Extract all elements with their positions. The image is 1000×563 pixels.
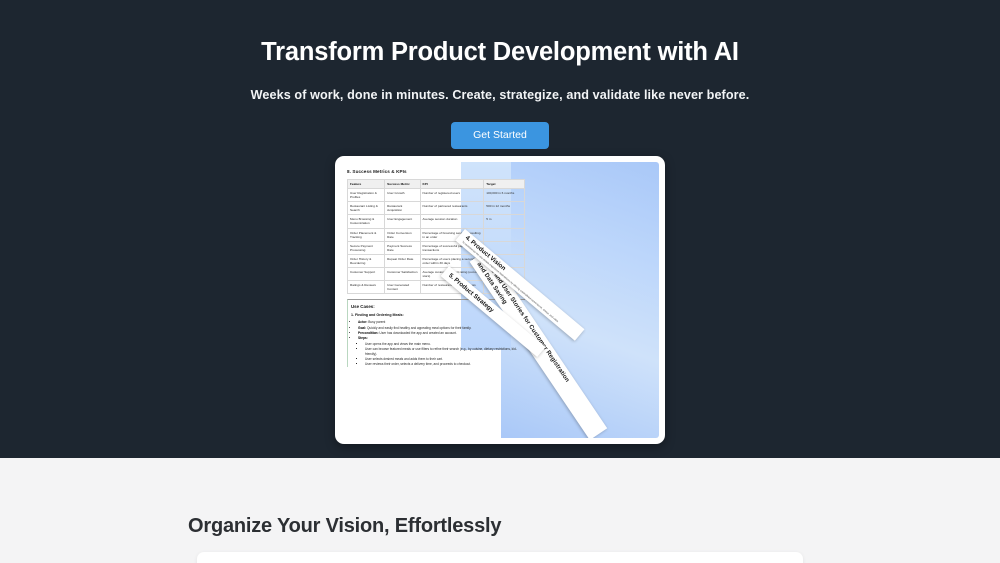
list-item-text: Busy parent (367, 320, 385, 324)
list-item: User opens the app and views the main me… (365, 342, 525, 347)
list-item: Precondition: User has downloaded the ap… (358, 331, 525, 336)
table-header-cell: Success Metric (385, 180, 420, 189)
use-case-steps-list: User opens the app and views the main me… (365, 342, 525, 367)
document-page: 8. Success Metrics & KPIs Feature Succes… (341, 162, 659, 438)
table-row: User Registration & Profiles User Growth… (348, 189, 525, 202)
table-cell (484, 228, 525, 241)
document-section-heading: 8. Success Metrics & KPIs (347, 169, 525, 174)
list-item-text: Quickly and easily find healthy and appe… (366, 326, 471, 330)
table-cell: Restaurant Acquisition (385, 202, 420, 215)
table-cell: Order Placement & Tracking (348, 228, 385, 241)
table-cell: User Growth (385, 189, 420, 202)
table-cell: User Generated Content (385, 281, 420, 294)
table-cell: 5 m (484, 215, 525, 228)
list-item: User selects desired meals and adds them… (365, 357, 525, 362)
table-cell: 500 in 12 months (484, 202, 525, 215)
list-item-text: User has downloaded the app and created … (379, 331, 457, 335)
table-cell: Restaurant Listing & Search (348, 202, 385, 215)
features-section: Organize Your Vision, Effortlessly (0, 458, 1000, 563)
table-cell: Number of partnered restaurants (420, 202, 484, 215)
table-header-cell: Target (484, 180, 525, 189)
table-cell: Number of registered users (420, 189, 484, 202)
table-cell: User Engagement (385, 215, 420, 228)
hero-section: Transform Product Development with AI We… (0, 0, 1000, 458)
table-cell: Order History & Reordering (348, 254, 385, 267)
list-item-label: Goal: (358, 326, 366, 330)
table-row: Menu Browsing & Customization User Engag… (348, 215, 525, 228)
features-section-title: Organize Your Vision, Effortlessly (188, 515, 501, 538)
table-cell: Secure Payment Processing (348, 241, 385, 254)
table-cell: Average session duration (420, 215, 484, 228)
table-cell: 100,000 in 6 months (484, 189, 525, 202)
page-title: Transform Product Development with AI (261, 37, 739, 68)
table-row: Order Placement & Tracking Order Convers… (348, 228, 525, 241)
table-header-cell: Feature (348, 180, 385, 189)
table-cell: Customer Satisfaction (385, 268, 420, 281)
list-item: User can browse featured meals or use fi… (365, 347, 525, 356)
product-preview-image: 8. Success Metrics & KPIs Feature Succes… (335, 156, 665, 444)
use-case-list: Actor: Busy parent Goal: Quickly and eas… (358, 320, 525, 366)
list-item: User reviews their order, selects a deli… (365, 362, 525, 367)
table-cell: Repeat Order Rate (385, 254, 420, 267)
table-cell: Menu Browsing & Customization (348, 215, 385, 228)
table-header-cell: KPI (420, 180, 484, 189)
table-row: Secure Payment Processing Payment Succes… (348, 241, 525, 254)
list-item-label: Precondition: (358, 331, 379, 335)
table-cell: Ratings & Reviews (348, 281, 385, 294)
table-header-row: Feature Success Metric KPI Target (348, 180, 525, 189)
table-row: Restaurant Listing & Search Restaurant A… (348, 202, 525, 215)
table-cell: Payment Success Rate (385, 241, 420, 254)
list-item-label: Steps: (358, 336, 368, 340)
table-cell: Order Conversion Rate (385, 228, 420, 241)
hero-subtitle: Weeks of work, done in minutes. Create, … (251, 88, 750, 102)
table-cell: User Registration & Profiles (348, 189, 385, 202)
list-item: Steps: User opens the app and views the … (358, 336, 525, 367)
get-started-button[interactable]: Get Started (451, 122, 549, 149)
list-item-label: Actor: (358, 320, 367, 324)
features-card (197, 552, 803, 563)
table-cell: Customer Support (348, 268, 385, 281)
